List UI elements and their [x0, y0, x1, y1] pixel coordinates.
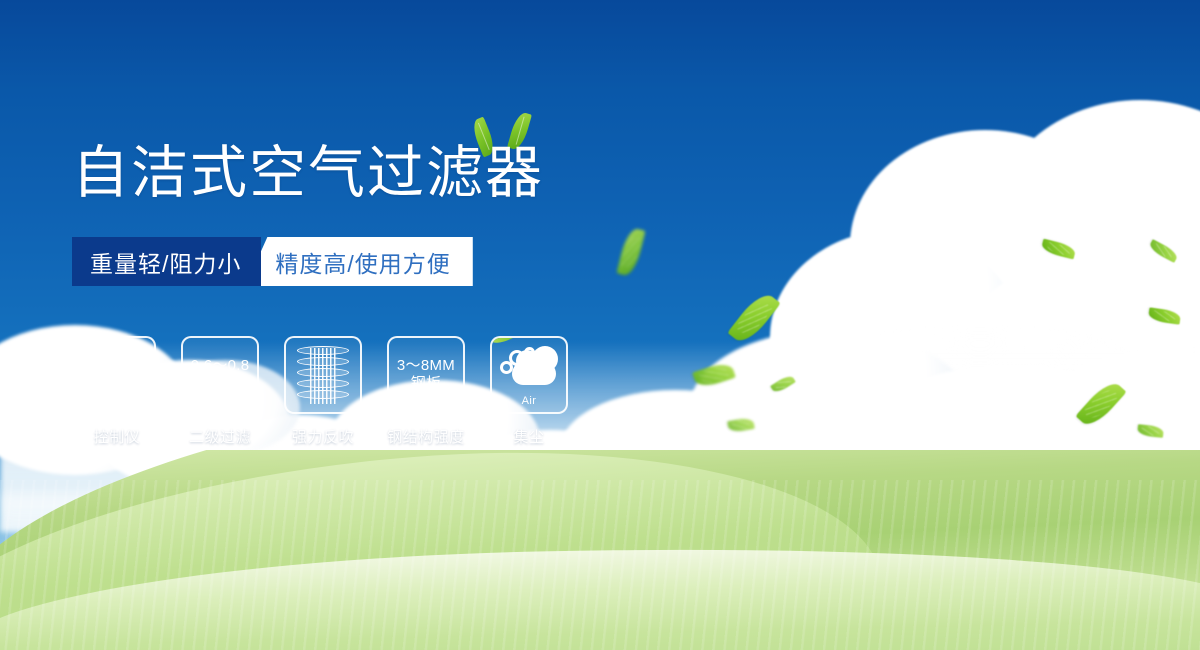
gauge-tick [91, 368, 95, 372]
gauge-tick [126, 351, 130, 355]
feature-label: 强力反吹 [292, 426, 354, 447]
feature-label: 二级过滤 [189, 426, 251, 447]
gauge-tick [92, 363, 96, 367]
product-banner: 自洁式空气过滤器 重量轻/阻力小 精度高/使用方便 NO OFF 控制仪 [0, 0, 1200, 650]
gauge-tick [95, 388, 99, 392]
gauge-tick [137, 361, 141, 365]
feature-icon-box: NO OFF [78, 336, 156, 414]
gauge-tick [122, 397, 126, 401]
gauge-tick [116, 348, 120, 352]
air-label: Air [498, 395, 560, 407]
feature-item-controller[interactable]: NO OFF 控制仪 [78, 336, 156, 447]
feature-item-two-stage-filter[interactable]: 0.6～0.8 MPA 二级过滤 [181, 336, 259, 447]
feature-label: 钢结构强度 [387, 426, 465, 447]
gauge-tick [134, 389, 138, 393]
gauge-tick [126, 396, 130, 400]
feature-label: 控制仪 [94, 426, 141, 447]
gauge-tick [140, 376, 144, 380]
feature-icon-box: 0.6～0.8 MPA [181, 336, 259, 414]
gauge-tick [90, 373, 94, 377]
gauge-tick [92, 383, 96, 387]
gauge-needle [112, 356, 122, 394]
pressure-value: 0.6～0.8 [191, 357, 250, 375]
pressure-unit: MPA [191, 375, 250, 393]
gauge-label-off: OFF [137, 395, 150, 401]
gauge-tick [131, 393, 135, 397]
feature-label: 集尘 [513, 426, 544, 447]
banner-content: 自洁式空气过滤器 重量轻/阻力小 精度高/使用方便 NO OFF 控制仪 [0, 0, 1200, 650]
feature-icon-box [284, 336, 362, 414]
feature-icon-box: 3～8MM 钢板 [387, 336, 465, 414]
gauge-tick [98, 355, 102, 359]
tagline-primary: 重量轻/阻力小 [72, 237, 261, 286]
gauge-tick [95, 359, 99, 363]
tagline-bar: 重量轻/阻力小 精度高/使用方便 [72, 237, 473, 286]
gauge-tick [137, 385, 141, 389]
gauge-tick [91, 378, 95, 382]
dust-particle [524, 347, 535, 358]
feature-icon-box: Air [490, 336, 568, 414]
feature-item-pulse-blowback[interactable]: 强力反吹 [284, 336, 362, 447]
feature-item-steel-strength[interactable]: 3～8MM 钢板 钢结构强度 [387, 336, 465, 447]
gauge-tick [130, 353, 134, 357]
gauge-tick [140, 371, 144, 375]
air-dust-cloud-icon: Air [498, 345, 560, 405]
gauge-tick [121, 349, 125, 353]
feature-item-dust-collection[interactable]: Air 集尘 [490, 336, 568, 447]
gauge-tick [106, 350, 110, 354]
gauge-dial-icon: NO OFF [85, 343, 149, 407]
gauge-tick [111, 349, 115, 353]
feature-list: NO OFF 控制仪 0.6～0.8 MPA 二级过滤 [78, 336, 568, 447]
steel-thickness: 3～8MM [397, 357, 455, 375]
filter-cartridge-icon [294, 344, 352, 406]
tagline-secondary: 精度高/使用方便 [245, 237, 472, 286]
gauge-tick [139, 366, 143, 370]
dust-particle [509, 350, 525, 366]
steel-material: 钢板 [397, 375, 455, 393]
gauge-tick [102, 352, 106, 356]
page-title: 自洁式空气过滤器 [72, 145, 544, 202]
gauge-tick [134, 357, 138, 361]
pressure-text-icon: 0.6～0.8 MPA [191, 357, 250, 392]
gauge-tick [139, 381, 143, 385]
steel-plate-text-icon: 3～8MM 钢板 [397, 357, 455, 392]
